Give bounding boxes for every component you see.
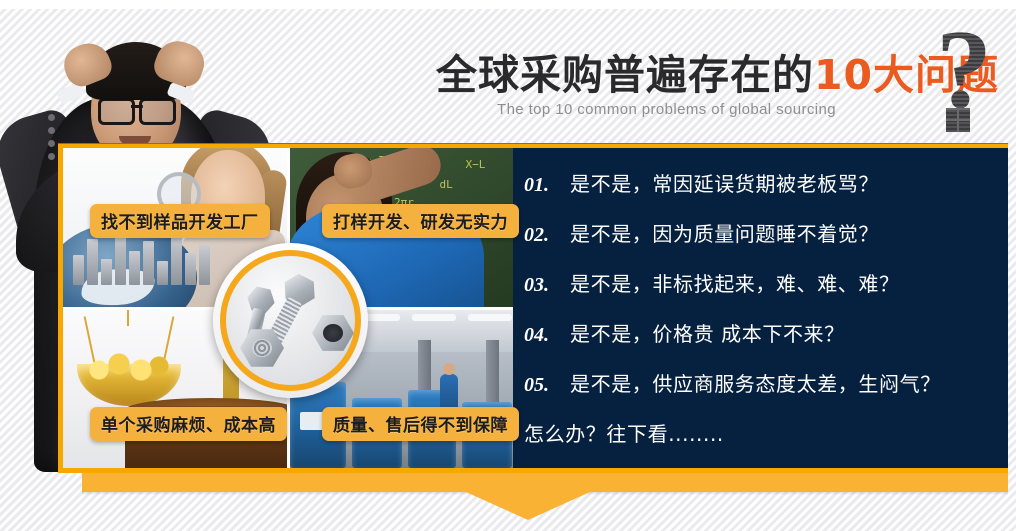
problem-list-footer: 怎么办？往下看........ (524, 418, 994, 447)
question-mark-glyph: ? (936, 24, 1010, 116)
question-mark-icon: ? (936, 24, 1010, 132)
list-item: 03. 是不是，非标找起来，难、难、难？ (524, 268, 994, 297)
list-item: 01. 是不是，常因延误货期被老板骂？ (524, 168, 994, 197)
list-item-number: 02. (524, 224, 558, 247)
title-main-text: 全球采购普遍存在的 (436, 51, 814, 99)
tag-sample-factory: 找不到样品开发工厂 (90, 204, 270, 238)
eyeglasses-icon (98, 98, 176, 120)
page-title: 全球采购普遍存在的10大问题 (436, 46, 956, 106)
list-item-number: 03. (524, 274, 558, 297)
list-item-text: 是不是，常因延误货期被老板骂？ (570, 168, 879, 197)
list-item-number: 04. (524, 324, 558, 347)
bolts-badge (213, 243, 368, 398)
list-item-text: 是不是，供应商服务态度太差，生闷气？ (570, 368, 941, 397)
list-item: 05. 是不是，供应商服务态度太差，生闷气？ (524, 368, 994, 397)
list-item: 02. 是不是，因为质量问题睡不着觉？ (524, 218, 994, 247)
page-subtitle: The top 10 common problems of global sou… (497, 101, 836, 118)
list-item-number: 01. (524, 174, 558, 197)
list-item-number: 05. (524, 374, 558, 397)
list-item: 04. 是不是，价格贵 成本下不来？ (524, 318, 994, 347)
tag-no-warranty: 质量、售后得不到保障 (322, 407, 519, 441)
gold-nuggets (85, 352, 173, 382)
problem-list: 01. 是不是，常因延误货期被老板骂？ 02. 是不是，因为质量问题睡不着觉？ … (524, 168, 994, 447)
bolts-badge-ring (220, 250, 361, 391)
banner-stage: 全球采购普遍存在的10大问题 The top 10 common problem… (0, 0, 1016, 531)
tag-rnd-weak: 打样开发、研发无实力 (322, 204, 519, 238)
bottom-orange-bar (82, 473, 1008, 492)
question-mark-dot (946, 108, 970, 132)
scroll-down-arrow-icon (466, 492, 590, 520)
list-item-text: 是不是，非标找起来，难、难、难？ (570, 268, 900, 297)
tag-single-buy: 单个采购麻烦、成本高 (90, 407, 287, 441)
sleeve-buttons (48, 114, 58, 156)
list-item-text: 是不是，因为质量问题睡不着觉？ (570, 218, 879, 247)
list-item-text: 是不是，价格贵 成本下不来？ (570, 318, 845, 347)
